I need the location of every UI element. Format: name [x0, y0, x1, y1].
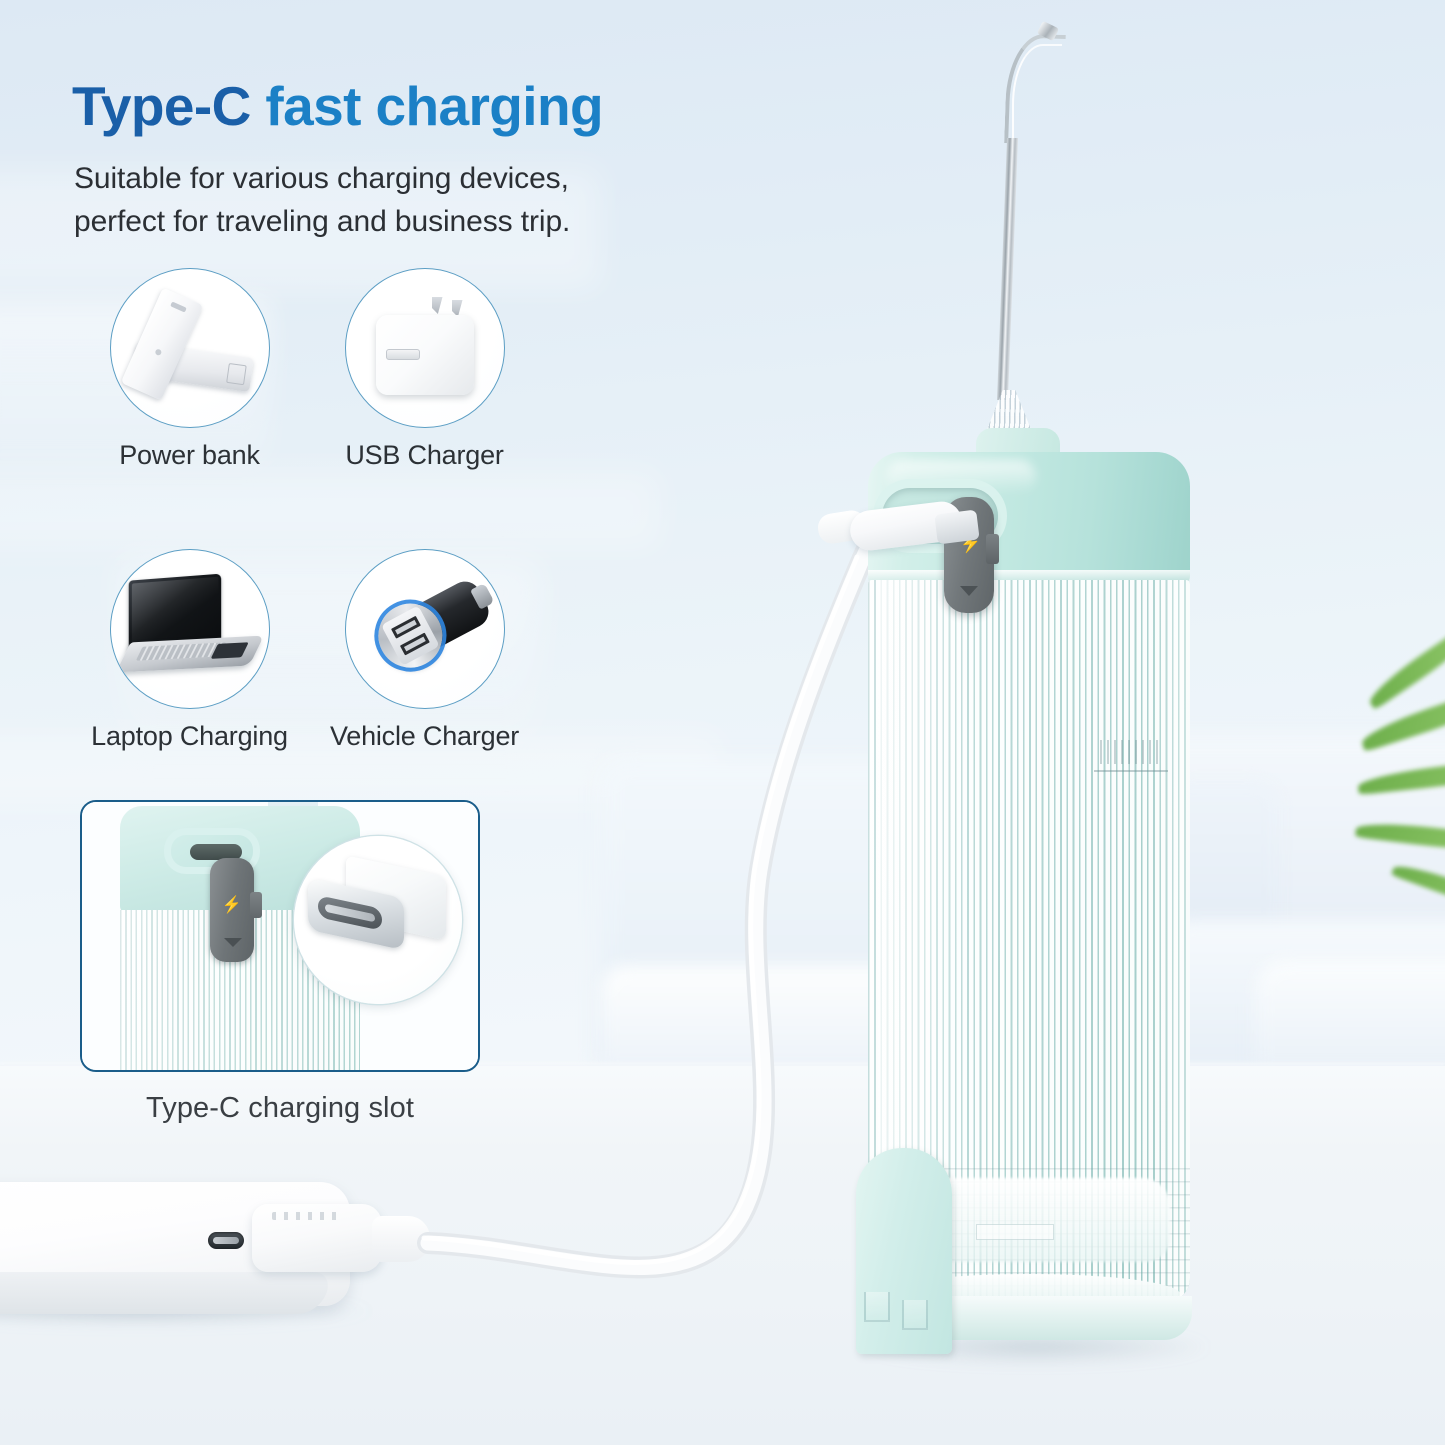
cable-strain-relief	[372, 1216, 430, 1262]
headline-part-2: fast charging	[265, 75, 603, 137]
callout-caption: Type-C charging slot	[80, 1092, 480, 1125]
green-plant-icon	[1355, 690, 1445, 950]
subtitle: Suitable for various charging devices, p…	[74, 158, 570, 243]
port-cover-tab[interactable]	[986, 534, 999, 564]
nozzle-shaft	[997, 138, 1018, 400]
feature-item-usb-charger: USB Charger	[307, 268, 542, 471]
water-flosser-product: ⚡	[820, 0, 1240, 1410]
subtitle-line-1: Suitable for various charging devices,	[74, 158, 570, 201]
lightning-bolt-icon: ⚡	[221, 894, 242, 915]
charging-slot-callout: ⚡	[80, 800, 480, 1072]
feature-item-laptop: Laptop Charging	[72, 549, 307, 752]
feature-label: Vehicle Charger	[330, 721, 519, 752]
tank-scale-marks	[1100, 740, 1160, 764]
usb-c-port-icon	[208, 1232, 244, 1249]
background-sofa-seat	[1255, 960, 1445, 1070]
base-flap-slot	[902, 1300, 928, 1330]
feature-label: Laptop Charging	[91, 721, 288, 752]
product-marketing-image: Type-C fast charging Suitable for variou…	[0, 0, 1445, 1445]
subtitle-line-2: perfect for traveling and business trip.	[74, 201, 570, 244]
usb-c-connector-icon	[294, 836, 462, 1004]
feature-list: Power bank USB Charger	[72, 268, 542, 752]
page-title: Type-C fast charging	[72, 78, 603, 136]
headline-part-1: Type-C	[72, 75, 265, 137]
chevron-down-icon	[960, 586, 978, 596]
callout-port-tab	[250, 892, 262, 918]
power-bank-icon	[110, 268, 270, 428]
feature-item-vehicle-charger: Vehicle Charger	[307, 549, 542, 752]
cable-plug-marks	[272, 1212, 338, 1220]
chevron-down-icon	[224, 938, 242, 947]
feature-item-power-bank: Power bank	[72, 268, 307, 471]
car-charger-icon	[345, 549, 505, 709]
laptop-icon	[110, 549, 270, 709]
power-adapter-face	[0, 1272, 335, 1314]
feature-label: USB Charger	[345, 440, 503, 471]
feature-label: Power bank	[119, 440, 260, 471]
base-flap-slot	[864, 1292, 890, 1322]
device-cable-plug-metal	[934, 510, 979, 545]
usb-charger-icon	[345, 268, 505, 428]
